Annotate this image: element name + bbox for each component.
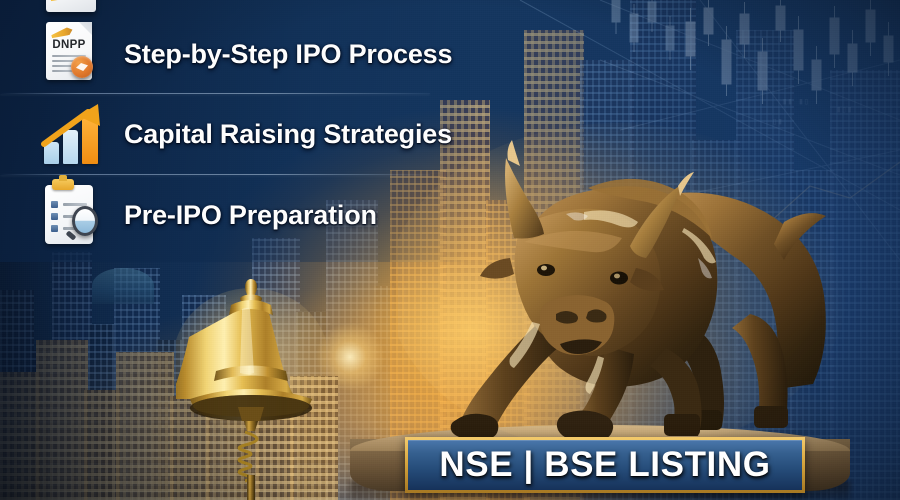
document-dnpp-icon: DNPP — [38, 18, 110, 90]
feature-label-capital-raising: Capital Raising Strategies — [124, 119, 452, 150]
nse-bse-listing-banner: NSE | BSE LISTING — [405, 437, 805, 493]
feature-row-capital-raising[interactable]: Capital Raising Strategies — [0, 94, 470, 174]
clipboard-checklist-magnifier-icon — [38, 179, 110, 251]
growth-bar-chart-icon — [38, 98, 110, 170]
document-icon-label: DNPP — [46, 39, 92, 51]
feature-row-ipo-process[interactable]: DNPP Step-by-Step IPO Process — [0, 14, 470, 94]
feature-row-pre-ipo[interactable]: Pre-IPO Preparation — [0, 175, 470, 255]
upward-arrow-icon — [40, 102, 106, 148]
magnifier-icon — [72, 206, 98, 236]
feature-label-pre-ipo: Pre-IPO Preparation — [124, 200, 377, 231]
banner-label: NSE | BSE LISTING — [439, 445, 770, 485]
poster-canvas: ▮▮ ▮▯ ▮▯▮ ▯▮ — [0, 0, 900, 500]
approval-stamp-badge — [71, 56, 93, 78]
feature-label-ipo-process: Step-by-Step IPO Process — [124, 39, 452, 70]
feature-list: DNPP Step-by-Step IPO Process — [0, 0, 470, 260]
